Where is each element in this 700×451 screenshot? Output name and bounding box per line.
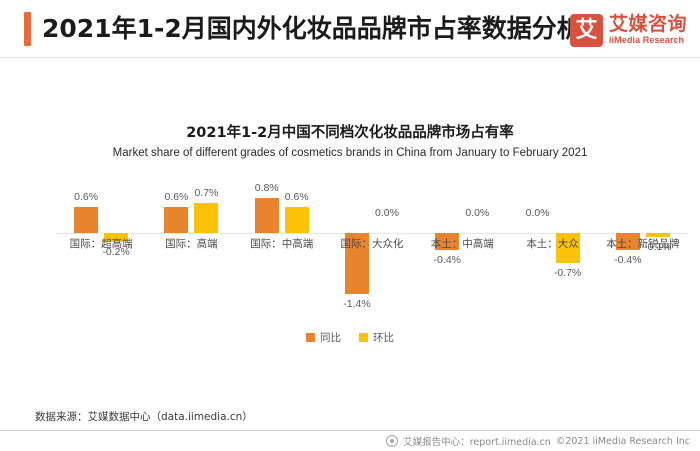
category-label: 国际：中高端 [237,236,327,251]
category-label: 国际：超高端 [56,236,146,251]
chart-subtitle: Market share of different grades of cosm… [0,147,700,159]
bar-group: 0.8%0.6%国际：中高端 [237,170,327,320]
page-header: 2021年1-2月国内外化妆品品牌市占率数据分析 艾 艾媒咨询 iiMedia … [0,0,700,58]
bar-group: -0.4%-0.1%本土：新锐品牌 [598,170,688,320]
page-title: 2021年1-2月国内外化妆品品牌市占率数据分析 [42,9,582,45]
bar-value-label: 0.0% [451,207,503,219]
legend-item[interactable]: 环比 [359,330,394,345]
report-center-icon [386,435,398,447]
bar-value-label: 0.0% [361,207,413,219]
bar-tongbi [164,207,188,233]
category-label: 本土：新锐品牌 [598,236,688,251]
report-center-label: 艾媒报告中心：report.iimedia.cn [403,434,551,448]
logo-name-en: iiMedia Research [609,36,687,45]
legend-swatch-icon [306,333,315,342]
chart-title: 2021年1-2月中国不同档次化妆品品牌市场占有率 [0,121,700,142]
footer-meta: 艾媒报告中心：report.iimedia.cn ©2021 iiMedia R… [386,434,690,448]
copyright-label: ©2021 iiMedia Research Inc [556,436,690,447]
legend-label: 同比 [320,330,341,345]
bar-value-label: -0.7% [542,267,594,279]
bar-value-label: 0.6% [271,191,323,203]
bar-chart-plot: 0.6%-0.2%国际：超高端0.6%0.7%国际：高端0.8%0.6%国际：中… [0,170,700,320]
bar-value-label: 0.6% [60,191,112,203]
bar-value-label: 0.0% [512,207,564,219]
logo-text: 艾媒咨询 iiMedia Research [609,15,687,45]
category-label: 本土：大众 [507,236,597,251]
bar-group: -0.4%0.0%本土：中高端 [417,170,507,320]
footer-divider [0,430,700,431]
bar-value-label: 0.7% [180,187,232,199]
screenshot-root: 2021年1-2月国内外化妆品品牌市占率数据分析 艾 艾媒咨询 iiMedia … [0,0,700,451]
logo-name-cn: 艾媒咨询 [609,15,687,35]
bar-group: -1.4%0.0%国际：大众化 [327,170,417,320]
category-label: 本土：中高端 [417,236,507,251]
bar-group: 0.6%-0.2%国际：超高端 [56,170,146,320]
legend-item[interactable]: 同比 [306,330,341,345]
header-divider [0,57,700,58]
brand-logo: 艾 艾媒咨询 iiMedia Research [570,12,687,48]
category-label: 国际：大众化 [327,236,417,251]
bar-tongbi [255,198,279,233]
header-accent-bar [24,12,31,46]
bar-value-label: -0.4% [421,254,473,266]
legend-swatch-icon [359,333,368,342]
data-source-note: 数据来源：艾媒数据中心（data.iimedia.cn） [35,409,253,424]
logo-mark-icon: 艾 [570,14,603,47]
legend-label: 环比 [373,330,394,345]
bar-value-label: -0.4% [602,254,654,266]
bar-huanbi [285,207,309,233]
bar-huanbi [194,203,218,233]
bar-value-label: -1.4% [331,298,383,310]
bar-group: 0.0%-0.7%本土：大众 [507,170,597,320]
bar-group: 0.6%0.7%国际：高端 [146,170,236,320]
category-label: 国际：高端 [146,236,236,251]
bar-tongbi [74,207,98,233]
chart-legend: 同比环比 [0,330,700,345]
